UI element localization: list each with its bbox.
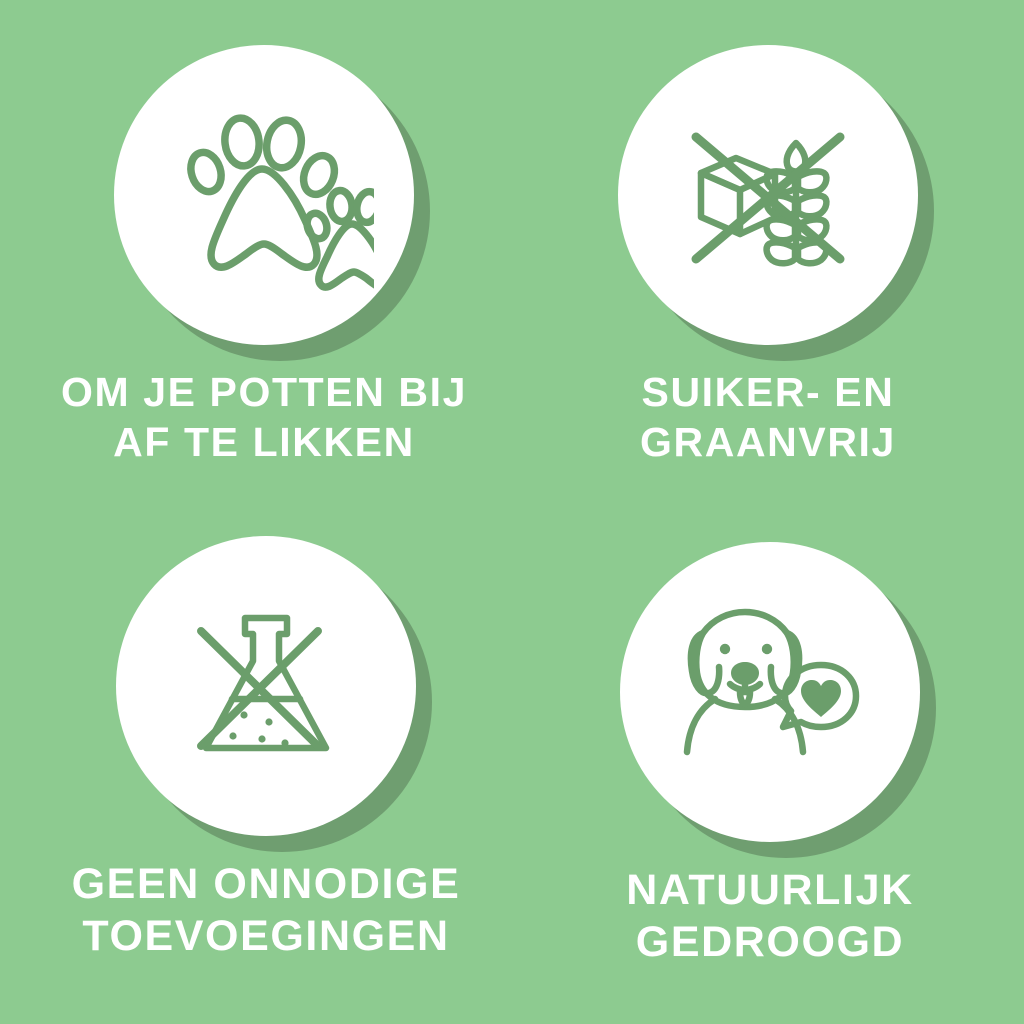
badge-grid: OM JE POTTEN BIJ AF TE LIKKEN [0, 0, 1024, 1024]
feature-card-paws[interactable]: OM JE POTTEN BIJ AF TE LIKKEN [0, 0, 512, 512]
badge-disc [114, 45, 414, 345]
feature-caption: SUIKER- EN GRAANVRIJ [640, 367, 896, 467]
no-sugar-no-grain-icon [668, 95, 868, 295]
badge-no-additives [116, 536, 416, 836]
badge-disc [620, 542, 920, 842]
badge-naturally-dried [620, 542, 920, 842]
badge-sugar-grain-free [618, 45, 918, 345]
no-chemistry-flask-icon [166, 586, 366, 786]
badge-disc [618, 45, 918, 345]
feature-caption: NATUURLIJK GEDROOGD [626, 864, 914, 969]
flask-bubbles [229, 711, 288, 746]
feature-card-no-additives[interactable]: GEEN ONNODIGE TOEVOEGINGEN [0, 512, 512, 1024]
heart-icon [801, 680, 841, 717]
happy-dog-heart-icon [663, 597, 878, 787]
badge-disc [116, 536, 416, 836]
feature-card-naturally-dried[interactable]: NATUURLIJK GEDROOGD [512, 512, 1024, 1024]
feature-caption: OM JE POTTEN BIJ AF TE LIKKEN [61, 367, 467, 467]
paw-prints-icon [154, 95, 374, 295]
badge-paws [114, 45, 414, 345]
cross-out-strike [201, 631, 318, 746]
feature-card-sugar-grain-free[interactable]: SUIKER- EN GRAANVRIJ [512, 0, 1024, 512]
feature-badge-board: OM JE POTTEN BIJ AF TE LIKKEN [0, 0, 1024, 1024]
feature-caption: GEEN ONNODIGE TOEVOEGINGEN [72, 858, 461, 963]
